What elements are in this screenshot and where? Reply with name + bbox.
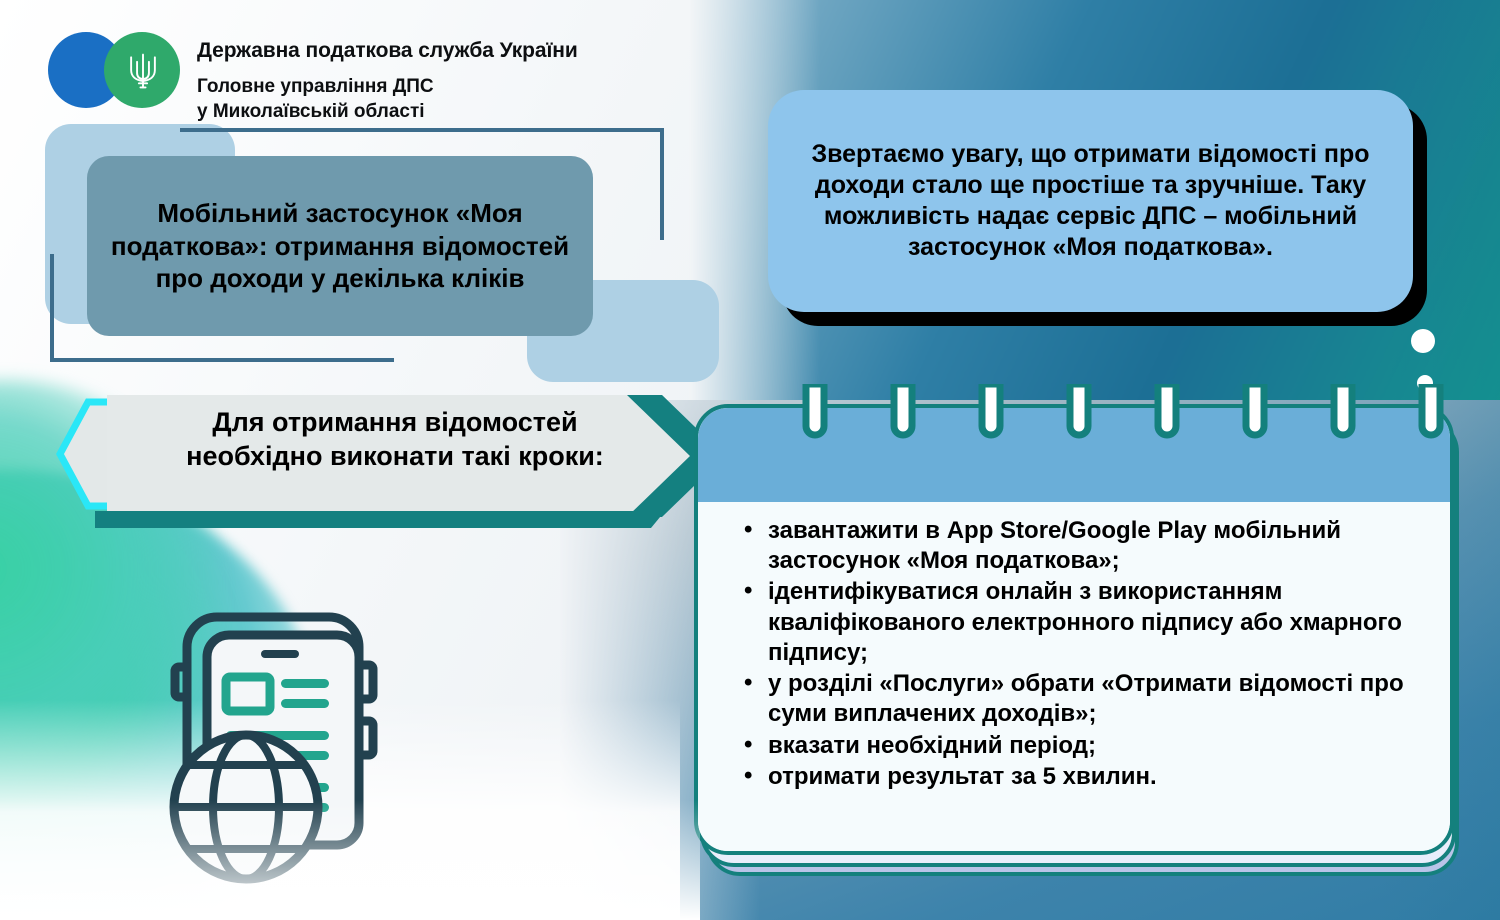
title-card-text: Мобільний застосунок «Моя податкова»: от… (87, 197, 593, 295)
list-item: у розділі «Послуги» обрати «Отримати від… (764, 669, 1424, 729)
title-card: Мобільний застосунок «Моя податкова»: от… (87, 156, 593, 336)
trident-icon (124, 50, 162, 92)
title-block: Мобільний застосунок «Моя податкова»: от… (40, 118, 740, 378)
list-item: отримати результат за 5 хвилин. (764, 762, 1424, 792)
decor-dot-small (1417, 375, 1433, 391)
org-title-line2: Головне управління ДПС у Миколаївській о… (197, 75, 578, 124)
org-title-line2a: Головне управління ДПС (197, 75, 578, 100)
arrow-banner-text: Для отримання відомостей необхідно викон… (145, 405, 645, 473)
steps-card-header (698, 408, 1450, 502)
mobile-phone-globe-icon (163, 595, 453, 890)
list-item: ідентифікуватися онлайн з використанням … (764, 577, 1424, 668)
logo (48, 18, 183, 108)
org-title-line1: Державна податкова служба України (197, 38, 578, 64)
notice-card: Звертаємо увагу, що отримати відомості п… (768, 90, 1413, 312)
decor-dot-large (1411, 329, 1435, 353)
steps-card-body: завантажити в App Store/Google Play мобі… (698, 502, 1450, 851)
steps-card: завантажити в App Store/Google Play мобі… (694, 404, 1454, 855)
arrow-banner-block: Для отримання відомостей необхідно викон… (45, 393, 745, 548)
header-text: Державна податкова служба України Головн… (197, 18, 578, 124)
header: Державна податкова служба України Головн… (48, 18, 578, 124)
list-item: завантажити в App Store/Google Play мобі… (764, 516, 1424, 576)
arrow-underline-bar (95, 511, 665, 528)
list-item: вказати необхідний період; (764, 731, 1424, 761)
steps-list: завантажити в App Store/Google Play мобі… (738, 516, 1424, 792)
notice-card-text: Звертаємо увагу, що отримати відомості п… (768, 139, 1413, 263)
infographic-canvas: Державна податкова служба України Головн… (0, 0, 1500, 920)
